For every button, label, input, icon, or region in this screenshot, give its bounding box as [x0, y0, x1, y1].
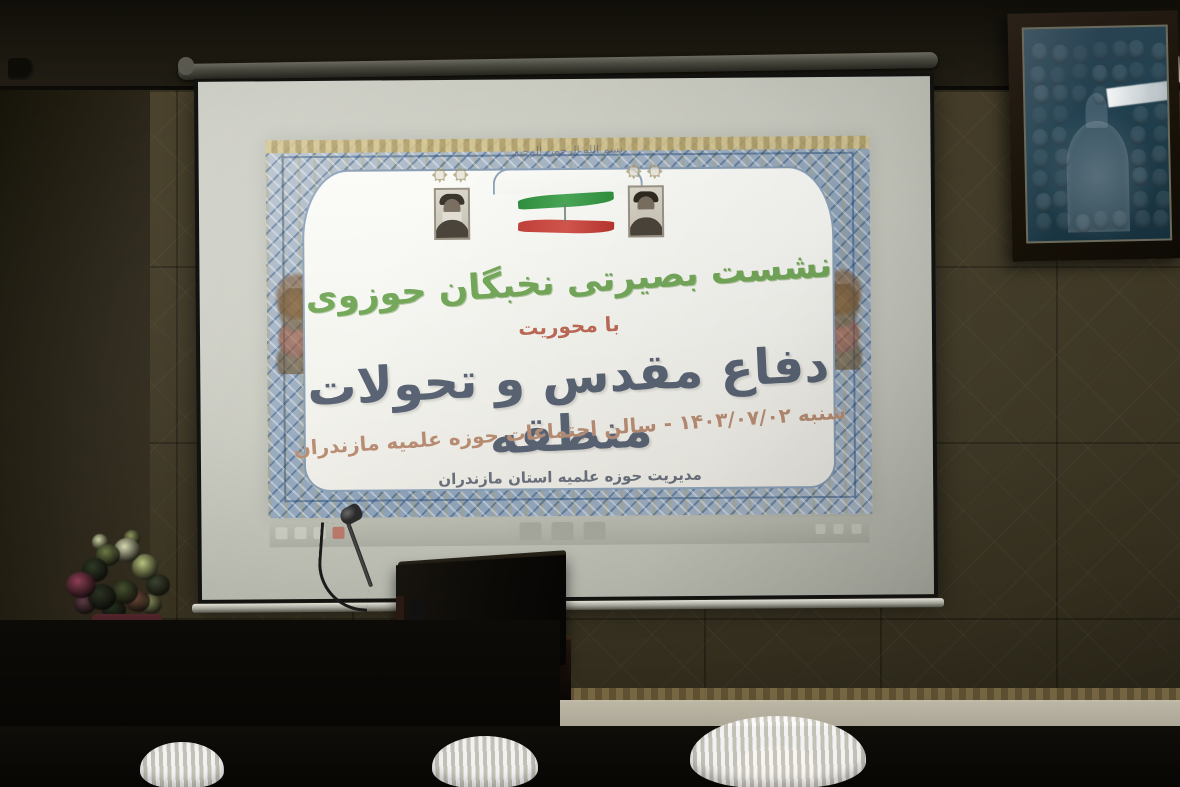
flag-pole [564, 204, 566, 222]
eight-point-star-icon [626, 163, 642, 179]
flower-blossom [66, 572, 96, 598]
taskbar-icon[interactable] [294, 527, 306, 539]
list-item [432, 736, 562, 787]
list-item [690, 716, 866, 787]
eight-point-star-icon [432, 167, 448, 183]
taskbar-window-button[interactable] [551, 522, 573, 540]
roller-end-cap [178, 57, 194, 75]
white-turban [140, 742, 224, 787]
frame-mat [1022, 24, 1172, 243]
white-turban [690, 716, 866, 787]
taskbar-window-button[interactable] [583, 522, 605, 540]
star-medallions-left [432, 167, 469, 183]
tray-icon[interactable] [833, 524, 843, 534]
martyrs-memorial-frame [1007, 10, 1180, 262]
flower-blossom [112, 580, 138, 604]
conference-hall-scene: بسم الله الرحمن الرحیم [0, 0, 1180, 787]
projection-screen-frame: بسم الله الرحمن الرحیم [194, 73, 938, 603]
taskbar-window-buttons[interactable] [519, 522, 605, 541]
portrait-khamenei [628, 185, 664, 237]
tray-icon[interactable] [815, 524, 825, 534]
robe [435, 220, 469, 238]
glass-reflection-soft [1024, 26, 1170, 241]
robe [629, 217, 663, 235]
event-banner-slide: بسم الله الرحمن الرحیم [265, 136, 872, 519]
star-medallions-right [626, 163, 663, 179]
taskbar-icon[interactable] [275, 527, 287, 539]
portrait-khomeini [434, 188, 470, 240]
ceiling-sensor [8, 58, 34, 80]
taskbar-window-button[interactable] [519, 522, 541, 540]
projection-screen: بسم الله الرحمن الرحیم [198, 76, 934, 600]
eight-point-star-icon [647, 163, 663, 179]
taskbar-tray-icons[interactable] [815, 524, 861, 534]
iran-flag [518, 192, 614, 239]
tray-icon[interactable] [851, 524, 861, 534]
cartouche-top-notch [493, 167, 643, 194]
white-turban [432, 736, 538, 787]
list-item [140, 742, 250, 787]
flag-red-band [518, 219, 614, 235]
eight-point-star-icon [453, 167, 469, 183]
frame-artwork [1024, 26, 1170, 241]
